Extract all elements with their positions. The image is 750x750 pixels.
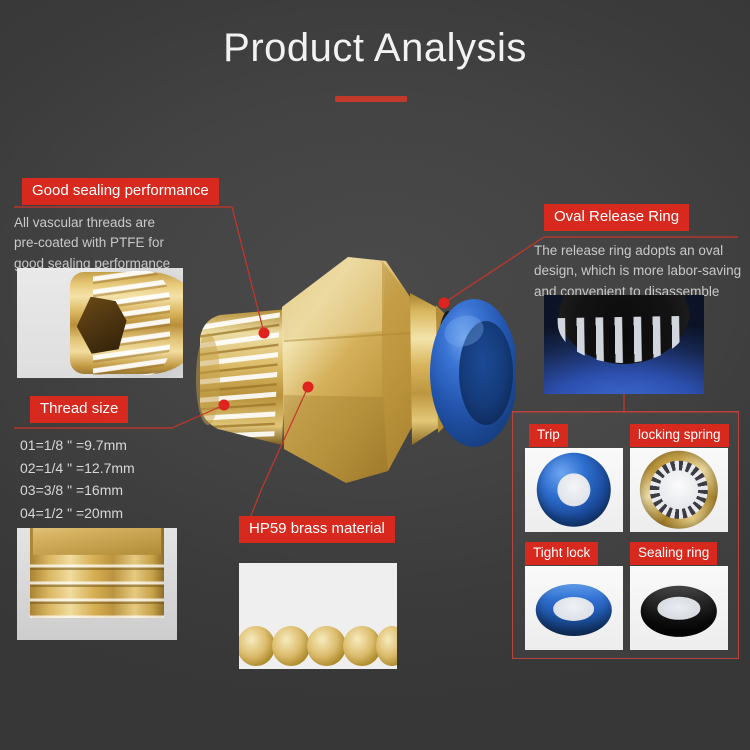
callout-text-oval-release-ring: The release ring adopts an oval design, … (534, 241, 750, 302)
photo-brass-rods (239, 563, 397, 669)
photo-blue-release-ring-macro (544, 295, 704, 394)
callout-text-good-sealing-performance: All vascular threads are pre-coated with… (14, 213, 229, 274)
component-cell-tight-lock[interactable]: Tight lock (525, 542, 623, 652)
photo-brass-thread-ptfe-macro (17, 268, 183, 378)
photo-blue-o-ring (525, 448, 623, 532)
callout-label-thread-size[interactable]: Thread size (30, 396, 128, 423)
component-grid-panel: Trip locking spring Tight lock Sealing r… (512, 411, 739, 659)
component-label-tight-lock[interactable]: Tight lock (525, 542, 598, 565)
component-cell-sealing-ring[interactable]: Sealing ring (630, 542, 728, 652)
photo-blue-tapered-lock-ring (525, 566, 623, 650)
callout-text-thread-size: 01=1/8 " =9.7mm 02=1/4 " =12.7mm 03=3/8 … (20, 434, 220, 525)
component-label-locking-spring[interactable]: locking spring (630, 424, 729, 447)
component-cell-trip[interactable]: Trip (525, 424, 623, 534)
callout-label-hp59-brass-material[interactable]: HP59 brass material (239, 516, 395, 543)
photo-black-rubber-seal-ring (630, 566, 728, 650)
photo-gold-toothed-spring-ring (630, 448, 728, 532)
product-analysis-poster: Product Analysis (0, 0, 750, 750)
callout-label-oval-release-ring[interactable]: Oval Release Ring (544, 204, 689, 231)
component-cell-locking-spring[interactable]: locking spring (630, 424, 728, 534)
callout-label-good-sealing-performance[interactable]: Good sealing performance (22, 178, 219, 205)
component-label-trip[interactable]: Trip (529, 424, 568, 447)
component-label-sealing-ring[interactable]: Sealing ring (630, 542, 717, 565)
photo-brass-thread-closeup (17, 528, 177, 640)
